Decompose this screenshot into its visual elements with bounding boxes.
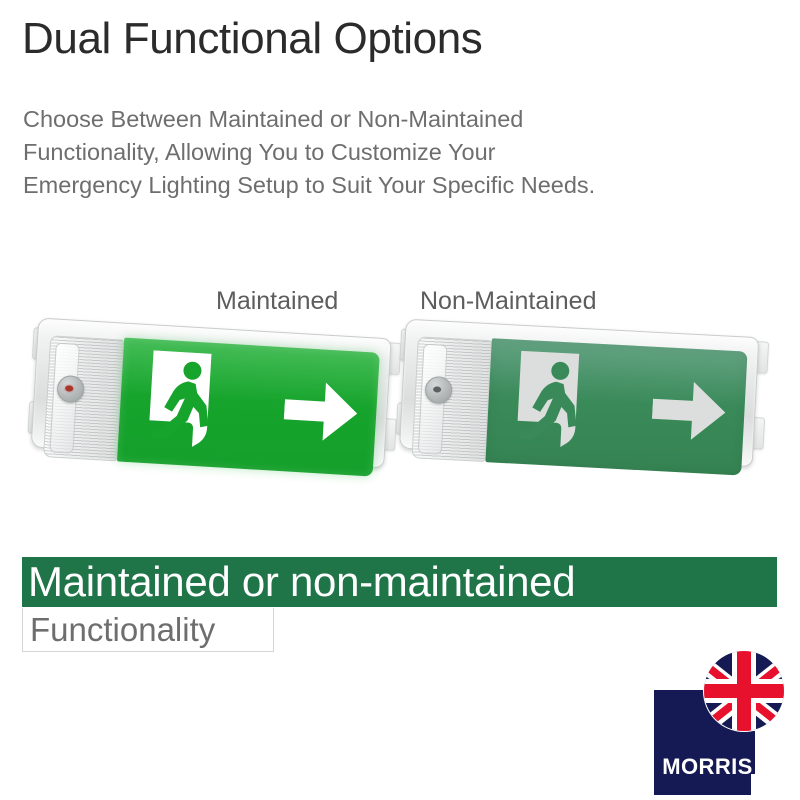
page-subtitle-line-3: Emergency Lighting Setup to Suit Your Sp… (23, 169, 773, 202)
feature-banner-headline: Maintained or non-maintained (22, 560, 575, 604)
page-subtitle-line-1: Choose Between Maintained or Non-Maintai… (23, 103, 773, 136)
right-arrow-icon (651, 377, 728, 445)
feature-banner-subline-box: Functionality (22, 608, 274, 652)
exit-sign-panel-maintained (117, 338, 380, 477)
product-comparison-row: Maintained (0, 286, 800, 501)
exit-sign-panel-non-maintained (485, 338, 747, 475)
status-led-icon (65, 385, 73, 391)
page-title: Dual Functional Options (22, 13, 482, 65)
emergency-exit-light-fixture-non-maintained (394, 307, 768, 486)
product-label-maintained: Maintained (216, 286, 338, 316)
ribbed-diffuser-endcap (43, 335, 124, 461)
page-subtitle: Choose Between Maintained or Non-Maintai… (23, 103, 773, 202)
emergency-exit-light-fixture-maintained (26, 305, 401, 486)
feature-banner-subline: Functionality (23, 612, 215, 648)
fixture-housing (31, 318, 392, 469)
status-led-icon (433, 386, 441, 392)
union-jack-flag-icon (702, 649, 786, 733)
feature-banner: Maintained or non-maintained (22, 557, 777, 607)
logo-wordmark: MORRIS (660, 755, 755, 779)
ribbed-diffuser-endcap (412, 336, 492, 462)
running-man-exit-icon (144, 348, 224, 456)
right-arrow-icon (282, 377, 360, 445)
fixture-housing (399, 319, 759, 467)
morris-logo[interactable]: MORRIS (654, 649, 800, 795)
page-subtitle-line-2: Functionality, Allowing You to Customize… (23, 136, 773, 169)
running-man-exit-icon (512, 349, 591, 457)
